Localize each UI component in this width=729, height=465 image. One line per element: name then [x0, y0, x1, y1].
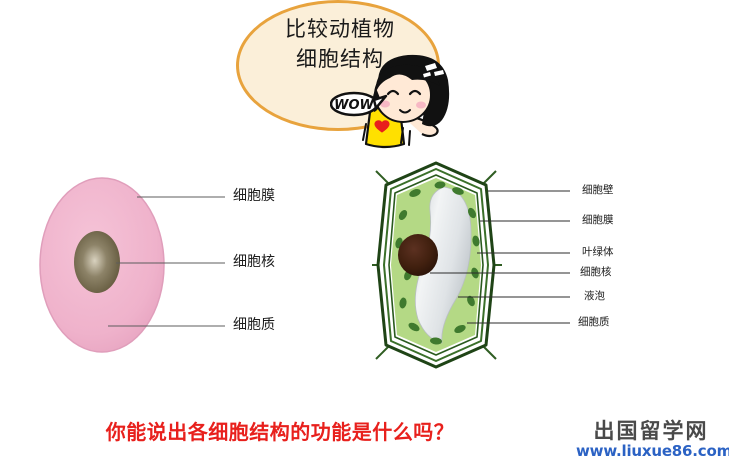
watermark-site-name: 出国留学网: [576, 419, 726, 443]
cheek-right: [416, 102, 426, 109]
animal-cell-diagram: [20, 155, 250, 380]
plant-label-cell-membrane: 细胞膜: [582, 215, 614, 226]
plant-label-chloroplast: 叶绿体: [582, 247, 614, 258]
girl-character: WOW: [330, 52, 470, 150]
animal-label-nucleus: 细胞核: [233, 255, 275, 269]
watermark-url: www.liuxue86.com: [576, 443, 726, 460]
animal-nucleus: [74, 231, 120, 293]
watermark: 出国留学网 www.liuxue86.com: [576, 419, 726, 460]
plant-label-cytoplasm: 细胞质: [578, 317, 610, 328]
slide-canvas: 比较动植物 细胞结构: [0, 0, 729, 465]
animal-label-cytoplasm: 细胞质: [233, 318, 275, 332]
speech-bubble-text: WOW: [334, 98, 374, 113]
plant-cell-diagram: [370, 155, 580, 385]
plant-label-cell-wall: 细胞壁: [582, 185, 614, 196]
question-prompt: 你能说出各细胞结构的功能是什么吗？: [0, 416, 560, 445]
plant-label-vacuole: 液泡: [584, 291, 605, 302]
animal-label-cell-membrane: 细胞膜: [233, 189, 275, 203]
plant-nucleus: [398, 234, 438, 276]
plant-label-nucleus: 细胞核: [580, 267, 612, 278]
